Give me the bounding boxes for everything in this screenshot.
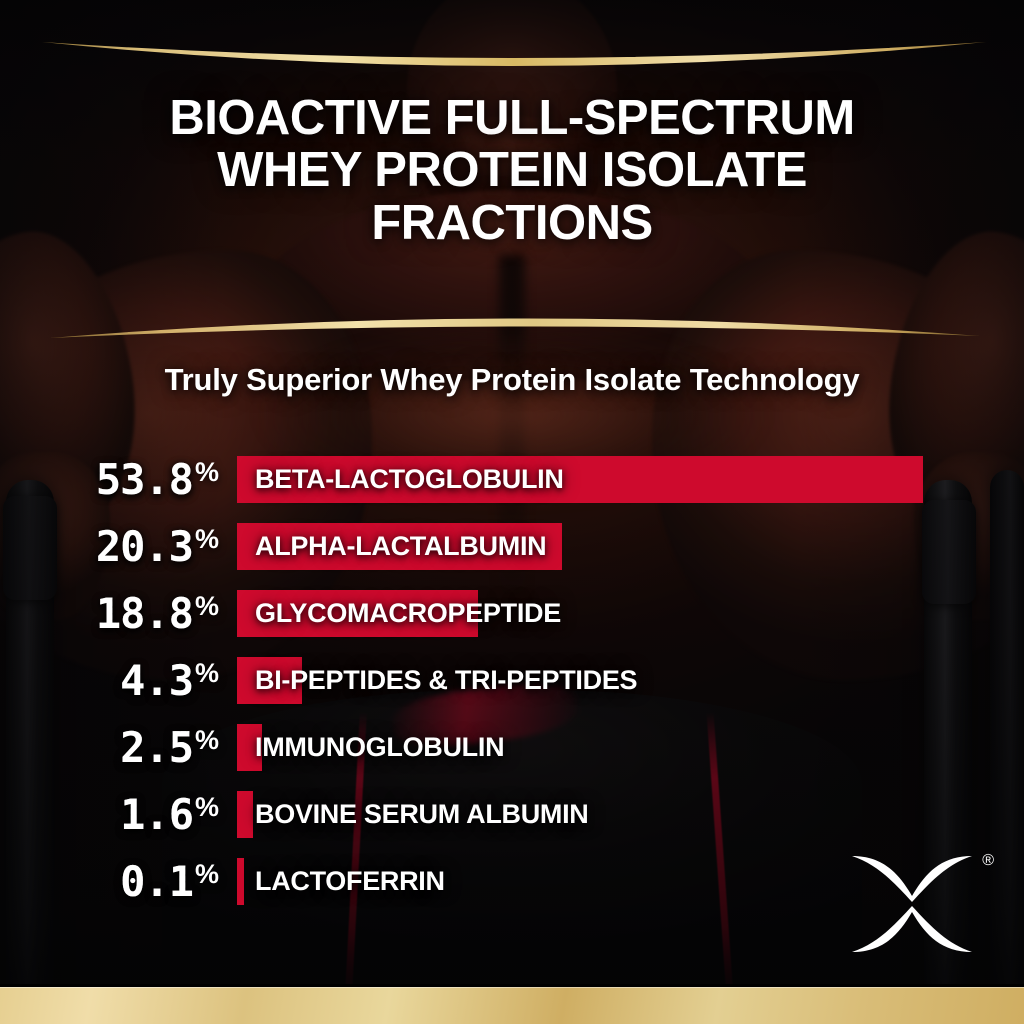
chart-row: 18.8%GLYCOMACROPEPTIDE — [0, 580, 1024, 647]
chart-row: 1.6%BOVINE SERUM ALBUMIN — [0, 781, 1024, 848]
bar-value-digits: 1.6 — [120, 794, 193, 836]
page-subtitle: Truly Superior Whey Protein Isolate Tech… — [0, 362, 1024, 398]
bar-container: BETA-LACTOGLOBULIN — [237, 446, 1024, 513]
percent-sign: % — [195, 457, 218, 488]
bar-value-digits: 53.8 — [96, 459, 193, 501]
bar-category-label: LACTOFERRIN — [255, 848, 445, 915]
bar-category-label: BOVINE SERUM ALBUMIN — [255, 781, 589, 848]
chart-row: 2.5%IMMUNOGLOBULIN — [0, 714, 1024, 781]
bar-category-label: BETA-LACTOGLOBULIN — [255, 446, 564, 513]
bar-value-label: 1.6% — [0, 781, 218, 848]
x-logo-icon — [848, 850, 976, 958]
bar-category-label: IMMUNOGLOBULIN — [255, 714, 504, 781]
registered-trademark-symbol: ® — [982, 852, 994, 870]
percent-sign: % — [195, 859, 218, 890]
bar-container: GLYCOMACROPEPTIDE — [237, 580, 1024, 647]
percent-sign: % — [195, 658, 218, 689]
bar-value-label: 4.3% — [0, 647, 218, 714]
percent-sign: % — [195, 591, 218, 622]
bar-container: BOVINE SERUM ALBUMIN — [237, 781, 1024, 848]
bar-fill — [237, 791, 253, 838]
bar-value-label: 18.8% — [0, 580, 218, 647]
bar-value-label: 2.5% — [0, 714, 218, 781]
bar-value-label: 20.3% — [0, 513, 218, 580]
bar-value-digits: 2.5 — [120, 727, 193, 769]
bar-container: IMMUNOGLOBULIN — [237, 714, 1024, 781]
bar-value-label: 0.1% — [0, 848, 218, 915]
percent-sign: % — [195, 524, 218, 555]
bar-value-digits: 0.1 — [120, 861, 193, 903]
title-line-1: BIOACTIVE FULL-SPECTRUM — [44, 92, 980, 144]
bar-value-digits: 18.8 — [96, 593, 193, 635]
brand-logo: ® — [848, 850, 976, 958]
bar-fill — [237, 858, 244, 905]
chart-row: 20.3%ALPHA-LACTALBUMIN — [0, 513, 1024, 580]
protein-fractions-bar-chart: 53.8%BETA-LACTOGLOBULIN20.3%ALPHA-LACTAL… — [0, 446, 1024, 915]
bar-container: ALPHA-LACTALBUMIN — [237, 513, 1024, 580]
bar-value-digits: 4.3 — [120, 660, 193, 702]
title-line-2: WHEY PROTEIN ISOLATE — [44, 144, 980, 196]
bar-category-label: BI-PEPTIDES & TRI-PEPTIDES — [255, 647, 637, 714]
bar-value-label: 53.8% — [0, 446, 218, 513]
poster-canvas: BIOACTIVE FULL-SPECTRUM WHEY PROTEIN ISO… — [0, 0, 1024, 1024]
percent-sign: % — [195, 792, 218, 823]
bar-value-digits: 20.3 — [96, 526, 193, 568]
percent-sign: % — [195, 725, 218, 756]
bar-category-label: GLYCOMACROPEPTIDE — [255, 580, 561, 647]
bar-category-label: ALPHA-LACTALBUMIN — [255, 513, 546, 580]
page-title: BIOACTIVE FULL-SPECTRUM WHEY PROTEIN ISO… — [0, 92, 1024, 249]
chart-row: 53.8%BETA-LACTOGLOBULIN — [0, 446, 1024, 513]
footer-gold-band — [0, 987, 1024, 1024]
title-line-3: FRACTIONS — [44, 197, 980, 249]
chart-row: 4.3%BI-PEPTIDES & TRI-PEPTIDES — [0, 647, 1024, 714]
bar-container: BI-PEPTIDES & TRI-PEPTIDES — [237, 647, 1024, 714]
